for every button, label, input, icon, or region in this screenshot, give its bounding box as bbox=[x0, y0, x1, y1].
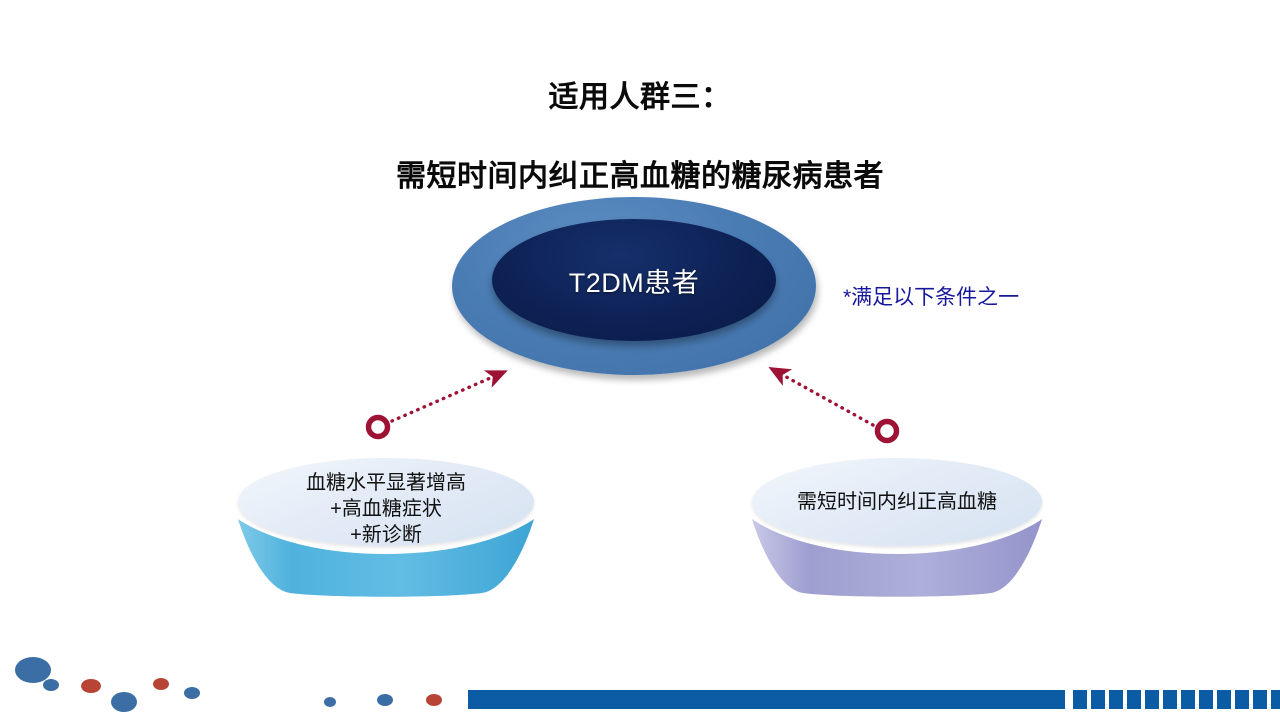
page-title-line-1: 适用人群三： bbox=[0, 78, 1280, 118]
decor-dot bbox=[184, 687, 200, 699]
connector-left-endpoint-circle bbox=[369, 418, 388, 437]
decor-dot bbox=[153, 678, 169, 690]
connector-left-line bbox=[392, 372, 504, 421]
footer-dash bbox=[1181, 690, 1195, 709]
connector-right-line bbox=[772, 369, 873, 425]
footer-dash bbox=[1109, 690, 1123, 709]
decor-dot bbox=[43, 679, 59, 691]
condition-note: *满足以下条件之一 bbox=[843, 281, 1019, 311]
footer-dash bbox=[1271, 690, 1280, 709]
connector-right-endpoint-circle bbox=[878, 422, 897, 441]
decor-dot bbox=[324, 697, 336, 707]
decor-dot bbox=[111, 692, 137, 712]
footer-dash bbox=[1163, 690, 1177, 709]
footer-dash bbox=[1217, 690, 1231, 709]
decor-dot bbox=[426, 694, 442, 706]
footer-dash bbox=[1253, 690, 1267, 709]
connector-right bbox=[772, 369, 897, 441]
footer-dash bbox=[1073, 690, 1087, 709]
central-node-inner-ellipse: T2DM患者 bbox=[492, 219, 776, 341]
footer-dash bbox=[1091, 690, 1105, 709]
central-node-label: T2DM患者 bbox=[569, 261, 700, 300]
footer-dash bbox=[1235, 690, 1249, 709]
condition-node-right: 需短时间内纠正高血糖 bbox=[752, 458, 1042, 598]
condition-node-left: 血糖水平显著增高 +高血糖症状 +新诊断 bbox=[238, 458, 534, 598]
footer-bar-solid bbox=[468, 690, 1065, 709]
condition-node-left-label: 血糖水平显著增高 +高血糖症状 +新诊断 bbox=[238, 470, 534, 548]
central-node: T2DM患者 bbox=[452, 197, 816, 375]
footer-dash bbox=[1127, 690, 1141, 709]
condition-node-right-label: 需短时间内纠正高血糖 bbox=[752, 489, 1042, 515]
decor-dot bbox=[377, 694, 393, 706]
footer-dash bbox=[1145, 690, 1159, 709]
decor-dot bbox=[81, 679, 101, 693]
connector-left bbox=[369, 372, 505, 437]
page-title-line-2: 需短时间内纠正高血糖的糖尿病患者 bbox=[0, 157, 1280, 197]
footer-dash bbox=[1199, 690, 1213, 709]
